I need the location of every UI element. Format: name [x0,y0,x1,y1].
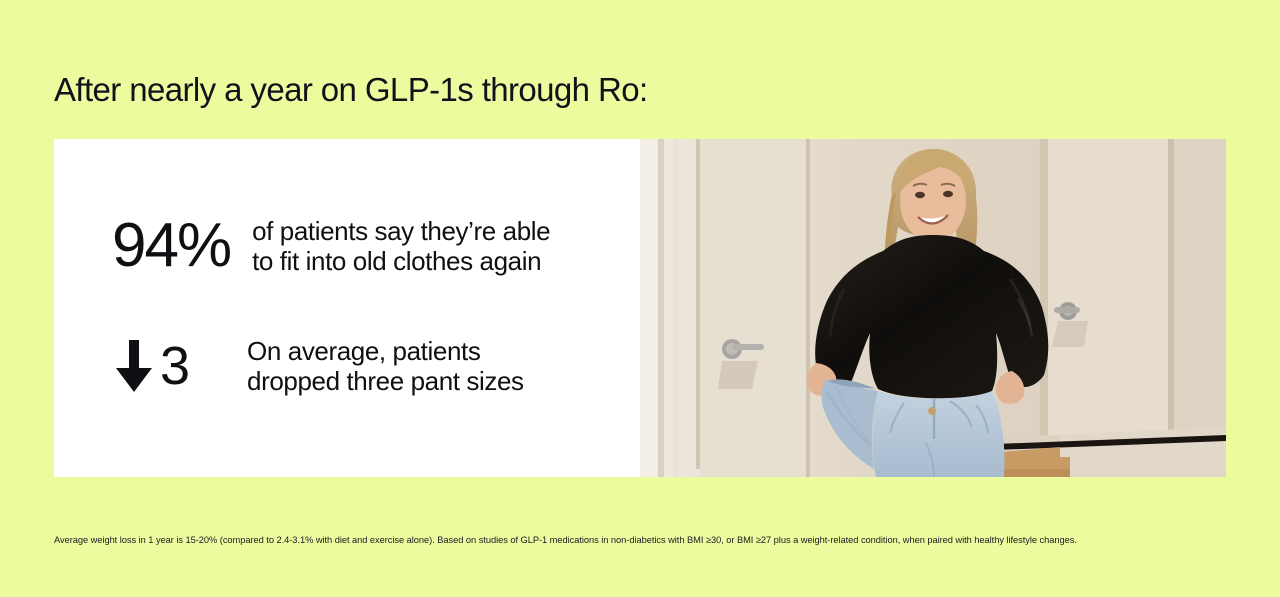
stat-label-clothes: of patients say they’re able to fit into… [252,217,550,276]
page-title: After nearly a year on GLP-1s through Ro… [54,71,648,109]
arrow-down-icon [114,338,154,394]
stat-label-pant-sizes: On average, patients dropped three pant … [247,337,524,396]
stats-panel: 94% of patients say they’re able to fit … [54,139,640,477]
footnote-disclaimer: Average weight loss in 1 year is 15-20% … [54,534,1234,547]
stats-card: 94% of patients say they’re able to fit … [54,139,1226,477]
stat-item-clothes: 94% of patients say they’re able to fit … [112,215,550,277]
stat-value-pant-sizes: 3 [160,339,189,393]
stat-item-pant-sizes: 3 On average, patients dropped three pan… [114,335,524,396]
stat-value-percent: 94% [112,215,230,277]
patient-photo [640,139,1226,477]
